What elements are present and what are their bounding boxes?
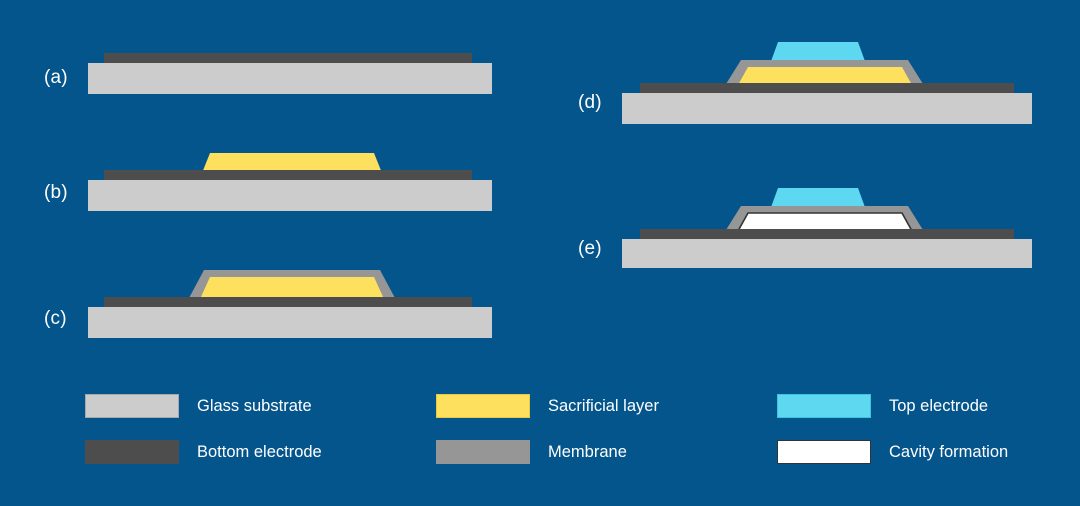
- panel-b-diagram: [44, 140, 504, 212]
- legend-item-membrane: Membrane: [436, 440, 627, 464]
- sacrificial-layer-shape: [738, 67, 912, 85]
- glass-substrate-layer: [88, 180, 492, 211]
- legend-label-bottom-electrode: Bottom electrode: [197, 443, 322, 462]
- panel-d-diagram: [578, 32, 1048, 124]
- legend-label-membrane: Membrane: [548, 443, 627, 462]
- legend-label-sacrificial-layer: Sacrificial layer: [548, 397, 659, 416]
- cavity-formation-shape: [738, 213, 912, 231]
- legend-label-top-electrode: Top electrode: [889, 397, 988, 416]
- panel-b-label: (b): [44, 182, 68, 204]
- panel-d-label: (d): [578, 92, 602, 114]
- legend-swatch-sacrificial-layer: [436, 394, 530, 418]
- legend-item-cavity-formation: Cavity formation: [777, 440, 1008, 464]
- figure-canvas: (a) (b) (c) (d): [0, 0, 1080, 506]
- panel-e: (e): [578, 180, 1048, 268]
- panel-c-diagram: [44, 258, 504, 338]
- panel-a: (a): [44, 45, 504, 100]
- panel-e-diagram: [578, 180, 1048, 268]
- legend-item-bottom-electrode: Bottom electrode: [85, 440, 322, 464]
- panel-e-label: (e): [578, 238, 602, 260]
- glass-substrate-layer: [622, 239, 1032, 268]
- legend: Glass substrate Bottom electrode Sacrifi…: [0, 382, 1080, 482]
- panel-a-diagram: [44, 45, 504, 100]
- panel-a-label: (a): [44, 67, 68, 89]
- legend-swatch-glass-substrate: [85, 394, 179, 418]
- legend-label-cavity-formation: Cavity formation: [889, 443, 1008, 462]
- legend-item-top-electrode: Top electrode: [777, 394, 988, 418]
- panel-c-label: (c): [44, 308, 67, 330]
- legend-swatch-bottom-electrode: [85, 440, 179, 464]
- legend-item-glass-substrate: Glass substrate: [85, 394, 312, 418]
- glass-substrate-layer: [88, 307, 492, 338]
- panel-b: (b): [44, 140, 504, 212]
- glass-substrate-layer: [622, 93, 1032, 124]
- legend-swatch-membrane: [436, 440, 530, 464]
- legend-swatch-cavity-formation: [777, 440, 871, 464]
- legend-swatch-top-electrode: [777, 394, 871, 418]
- legend-item-sacrificial-layer: Sacrificial layer: [436, 394, 659, 418]
- glass-substrate-layer: [88, 63, 492, 94]
- panel-c: (c): [44, 258, 504, 338]
- panel-d: (d): [578, 32, 1048, 124]
- legend-label-glass-substrate: Glass substrate: [197, 397, 312, 416]
- sacrificial-layer-shape: [200, 277, 384, 299]
